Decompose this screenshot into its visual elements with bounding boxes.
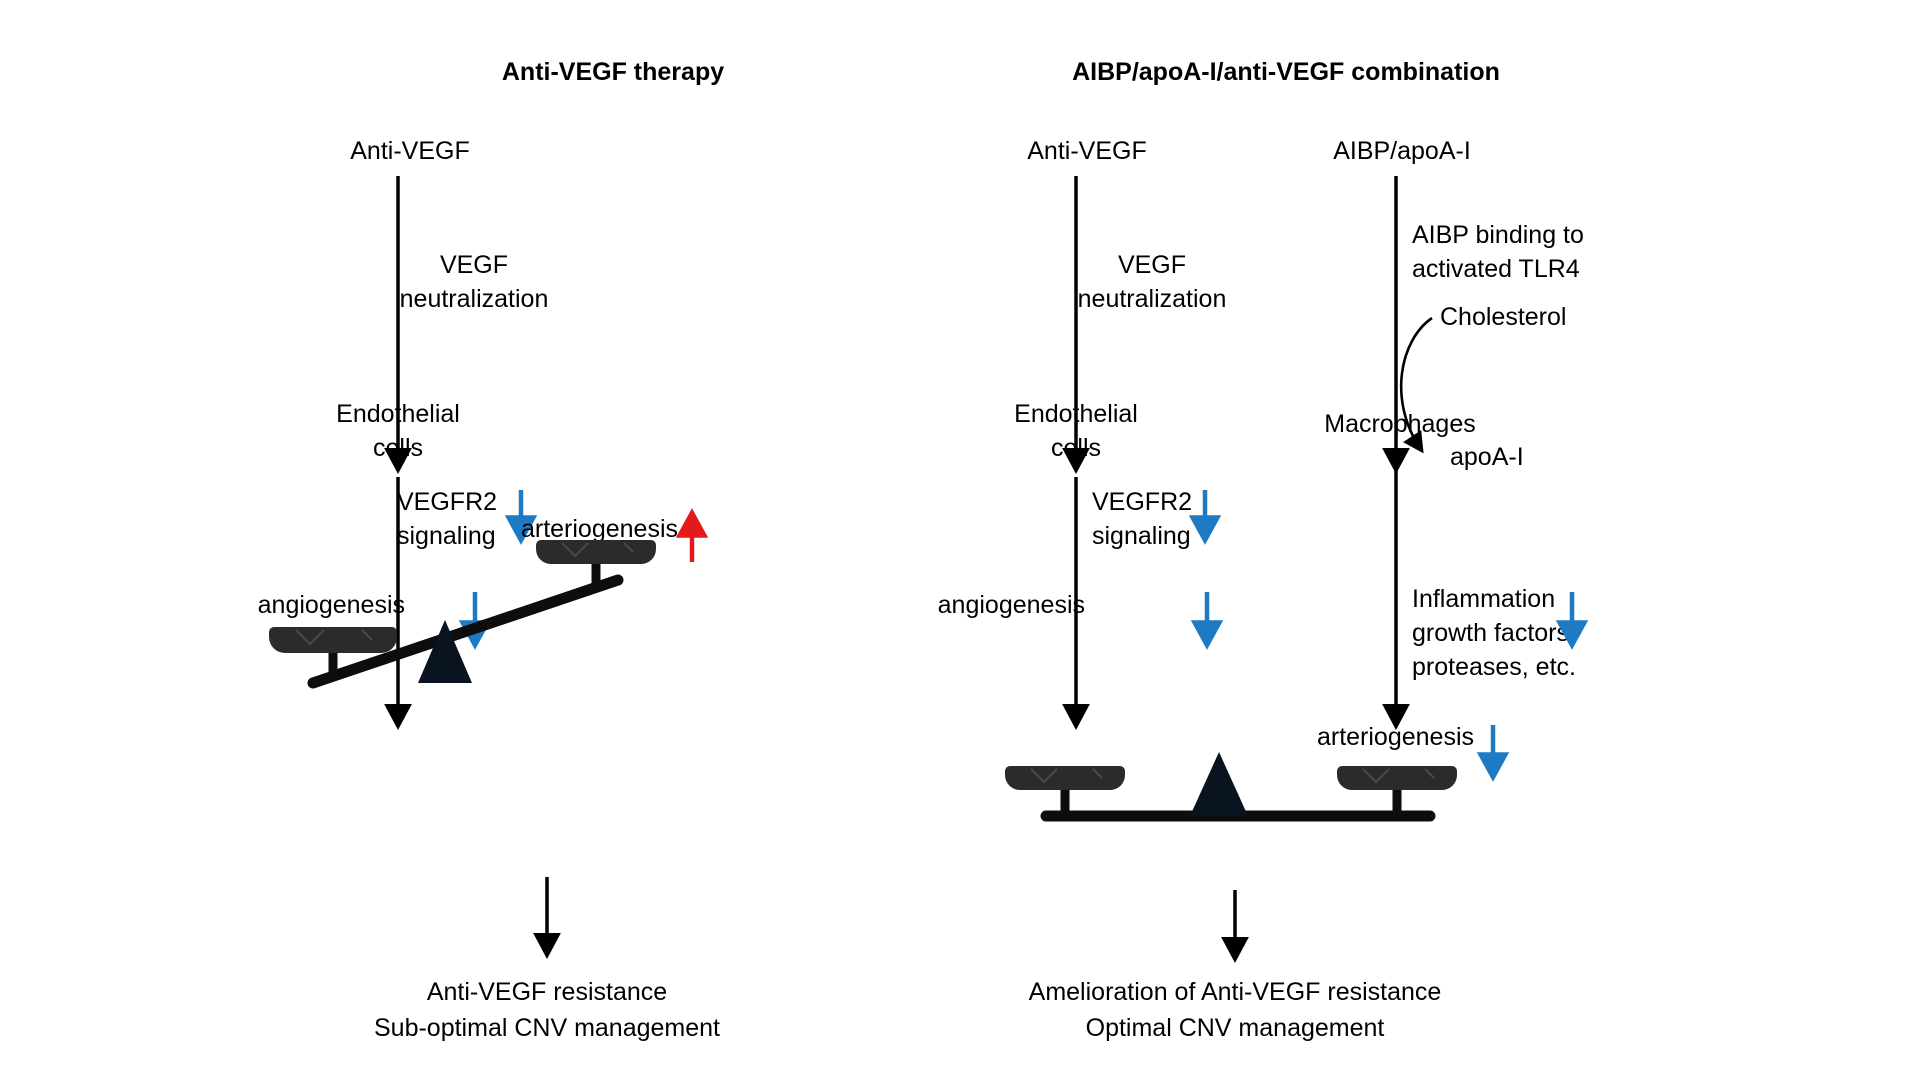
right-balance-left-pan — [1005, 766, 1125, 790]
right-edge-vegfr2-line1: VEGFR2 — [1092, 488, 1192, 516]
right-node-endothelial-line1: Endothelial — [1014, 400, 1138, 428]
right-edge-binding-line1: AIBP binding to — [1412, 221, 1584, 249]
left-edge-neutralization-line1: VEGF — [440, 251, 508, 279]
right-node-macrophages: Macrophages — [1324, 410, 1475, 438]
left-edge-neutralization-line2: neutralization — [400, 285, 549, 313]
right-node-apoa1: apoA-I — [1450, 443, 1524, 471]
left-node-angiogenesis: angiogenesis — [258, 591, 405, 619]
right-node-arteriogenesis: arteriogenesis — [1317, 723, 1474, 751]
right-edge-neutralization-line2: neutralization — [1078, 285, 1227, 313]
right-outcome-line1: Amelioration of Anti-VEGF resistance — [1029, 978, 1442, 1006]
left-outcome-line2: Sub-optimal CNV management — [374, 1014, 720, 1042]
left-edge-vegfr2-line2: signaling — [397, 522, 496, 550]
right-balance-right-pan — [1337, 766, 1457, 790]
right-node-cholesterol: Cholesterol — [1440, 303, 1566, 331]
diagram-canvas: Anti-VEGF therapy Anti-VEGF VEGF neutral… — [0, 0, 1920, 1080]
right-edge-inflammation-line1: Inflammation — [1412, 585, 1555, 613]
right-node-anti-vegf: Anti-VEGF — [1027, 137, 1146, 165]
left-panel-title: Anti-VEGF therapy — [502, 58, 724, 86]
right-edge-vegfr2-line2: signaling — [1092, 522, 1191, 550]
left-node-anti-vegf: Anti-VEGF — [350, 137, 469, 165]
left-node-endothelial-line1: Endothelial — [336, 400, 460, 428]
left-node-endothelial-line2: cells — [373, 434, 423, 462]
right-edge-binding-line2: activated TLR4 — [1412, 255, 1580, 283]
right-edge-neutralization-line1: VEGF — [1118, 251, 1186, 279]
right-node-aibp-apoa1: AIBP/apoA-I — [1333, 137, 1471, 165]
left-balance-left-pan — [269, 627, 397, 653]
left-edge-vegfr2-line1: VEGFR2 — [397, 488, 497, 516]
left-outcome-line1: Anti-VEGF resistance — [427, 978, 667, 1006]
right-node-angiogenesis: angiogenesis — [938, 591, 1085, 619]
right-node-endothelial-line2: cells — [1051, 434, 1101, 462]
right-panel-title: AIBP/apoA-I/anti-VEGF combination — [1072, 58, 1500, 86]
figure-background — [0, 0, 1920, 1080]
left-node-arteriogenesis: arteriogenesis — [521, 515, 678, 543]
right-edge-inflammation-line2: growth factors — [1412, 619, 1569, 647]
right-outcome-line2: Optimal CNV management — [1086, 1014, 1385, 1042]
left-balance-right-pan — [536, 540, 656, 564]
right-edge-inflammation-line3: proteases, etc. — [1412, 653, 1576, 681]
